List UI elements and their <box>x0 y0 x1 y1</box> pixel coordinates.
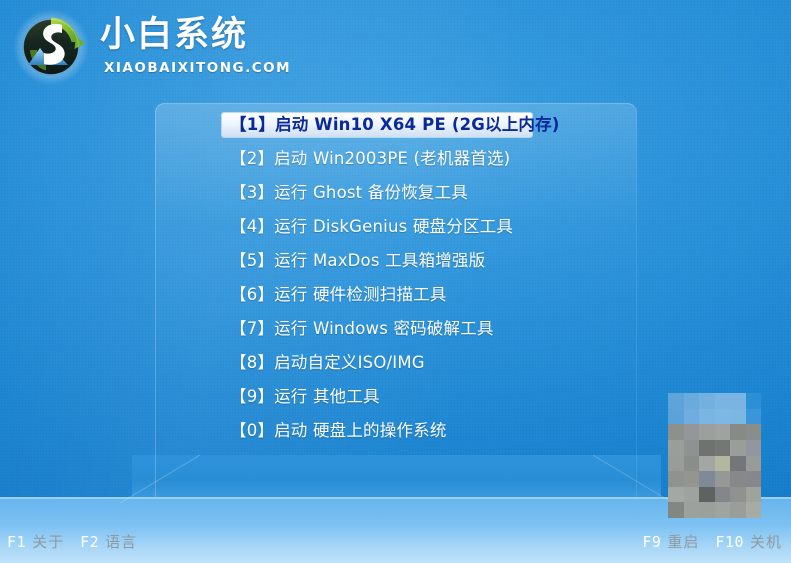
mosaic-cell <box>746 456 762 472</box>
xiaobai-circular-logo-icon <box>12 8 90 86</box>
menu-item-label: 【0】启动 硬盘上的操作系统 <box>230 423 447 440</box>
mosaic-cell <box>699 393 715 409</box>
mosaic-cell <box>684 393 700 409</box>
menu-item-10[interactable]: 【0】启动 硬盘上的操作系统 <box>222 419 552 443</box>
menu-item-label: 【2】启动 Win2003PE (老机器首选) <box>230 151 510 168</box>
boot-menu-screen: 小白系统 XIAOBAIXITONG.COM 【1】启动 Win10 X64 P… <box>0 0 791 563</box>
censored-watermark-block <box>668 393 761 518</box>
mosaic-cell <box>699 471 715 487</box>
menu-item-label: 【3】运行 Ghost 备份恢复工具 <box>230 185 468 202</box>
mosaic-cell <box>684 456 700 472</box>
mosaic-cell <box>730 424 746 440</box>
function-key-f1[interactable]: F1关于 <box>7 531 64 552</box>
mosaic-cell <box>746 487 762 503</box>
function-key-label: F2 <box>80 533 99 551</box>
function-key-f2[interactable]: F2语言 <box>80 531 137 552</box>
menu-item-1[interactable]: 【1】启动 Win10 X64 PE (2G以上内存) <box>222 113 532 137</box>
mosaic-row <box>668 393 761 409</box>
mosaic-cell <box>730 409 746 425</box>
function-key-label: F10 <box>715 533 744 551</box>
mosaic-cell <box>730 440 746 456</box>
function-key-label: F9 <box>642 533 661 551</box>
menu-item-label: 【1】启动 Win10 X64 PE (2G以上内存) <box>230 117 560 134</box>
mosaic-cell <box>684 409 700 425</box>
mosaic-cell <box>699 502 715 518</box>
menu-item-2[interactable]: 【2】启动 Win2003PE (老机器首选) <box>222 147 552 171</box>
mosaic-row <box>668 456 761 472</box>
menu-item-9[interactable]: 【9】运行 其他工具 <box>222 385 552 409</box>
mosaic-cell <box>715 502 731 518</box>
mosaic-cell <box>684 424 700 440</box>
mosaic-cell <box>715 393 731 409</box>
mosaic-cell <box>746 409 762 425</box>
mosaic-cell <box>668 424 684 440</box>
brand-logo: 小白系统 XIAOBAIXITONG.COM <box>8 6 278 86</box>
mosaic-row <box>668 440 761 456</box>
mosaic-cell <box>699 409 715 425</box>
mosaic-cell <box>668 471 684 487</box>
function-key-f10[interactable]: F10关机 <box>715 531 782 552</box>
mosaic-cell <box>730 487 746 503</box>
menu-item-label: 【7】运行 Windows 密码破解工具 <box>230 321 494 338</box>
mosaic-cell <box>668 440 684 456</box>
mosaic-cell <box>668 487 684 503</box>
mosaic-cell <box>730 393 746 409</box>
logo-title-en: XIAOBAIXITONG.COM <box>104 62 291 76</box>
mosaic-row <box>668 409 761 425</box>
menu-item-8[interactable]: 【8】启动自定义ISO/IMG <box>222 351 552 375</box>
menu-item-label: 【6】运行 硬件检测扫描工具 <box>230 287 447 304</box>
function-key-label: F1 <box>7 533 26 551</box>
mosaic-cell <box>730 502 746 518</box>
mosaic-cell <box>730 471 746 487</box>
mosaic-cell <box>668 409 684 425</box>
mosaic-cell <box>746 393 762 409</box>
mosaic-row <box>668 471 761 487</box>
menu-item-label: 【5】运行 MaxDos 工具箱增强版 <box>230 253 485 270</box>
mosaic-cell <box>746 424 762 440</box>
menu-item-label: 【4】运行 DiskGenius 硬盘分区工具 <box>230 219 513 236</box>
function-key-description: 语言 <box>105 531 137 552</box>
mosaic-cell <box>684 471 700 487</box>
mosaic-cell <box>746 440 762 456</box>
mosaic-cell <box>715 456 731 472</box>
mosaic-row <box>668 502 761 518</box>
mosaic-cell <box>668 456 684 472</box>
mosaic-row <box>668 424 761 440</box>
menu-item-6[interactable]: 【6】运行 硬件检测扫描工具 <box>222 283 552 307</box>
menu-item-5[interactable]: 【5】运行 MaxDos 工具箱增强版 <box>222 249 552 273</box>
function-keys-right: F9重启F10关机 <box>642 531 782 552</box>
mosaic-cell <box>699 424 715 440</box>
boot-menu-list: 【1】启动 Win10 X64 PE (2G以上内存)【2】启动 Win2003… <box>222 113 552 453</box>
mosaic-cell <box>668 393 684 409</box>
menu-item-7[interactable]: 【7】运行 Windows 密码破解工具 <box>222 317 552 341</box>
mosaic-cell <box>699 456 715 472</box>
menu-item-3[interactable]: 【3】运行 Ghost 备份恢复工具 <box>222 181 552 205</box>
mosaic-cell <box>715 487 731 503</box>
function-key-description: 关机 <box>750 531 782 552</box>
mosaic-cell <box>699 487 715 503</box>
mosaic-cell <box>684 502 700 518</box>
menu-item-label: 【9】运行 其他工具 <box>230 389 380 406</box>
function-keys-left: F1关于F2语言 <box>7 531 137 552</box>
mosaic-cell <box>746 502 762 518</box>
menu-item-4[interactable]: 【4】运行 DiskGenius 硬盘分区工具 <box>222 215 552 239</box>
function-key-description: 关于 <box>32 531 64 552</box>
mosaic-cell <box>746 471 762 487</box>
function-key-description: 重启 <box>667 531 699 552</box>
mosaic-cell <box>715 440 731 456</box>
logo-title-cn: 小白系统 <box>100 18 248 53</box>
function-key-f9[interactable]: F9重启 <box>642 531 699 552</box>
mosaic-cell <box>684 440 700 456</box>
mosaic-row <box>668 487 761 503</box>
mosaic-cell <box>684 487 700 503</box>
mosaic-cell <box>668 502 684 518</box>
mosaic-cell <box>715 471 731 487</box>
menu-item-label: 【8】启动自定义ISO/IMG <box>230 355 425 372</box>
mosaic-cell <box>715 409 731 425</box>
mosaic-cell <box>730 456 746 472</box>
mosaic-cell <box>715 424 731 440</box>
mosaic-cell <box>699 440 715 456</box>
